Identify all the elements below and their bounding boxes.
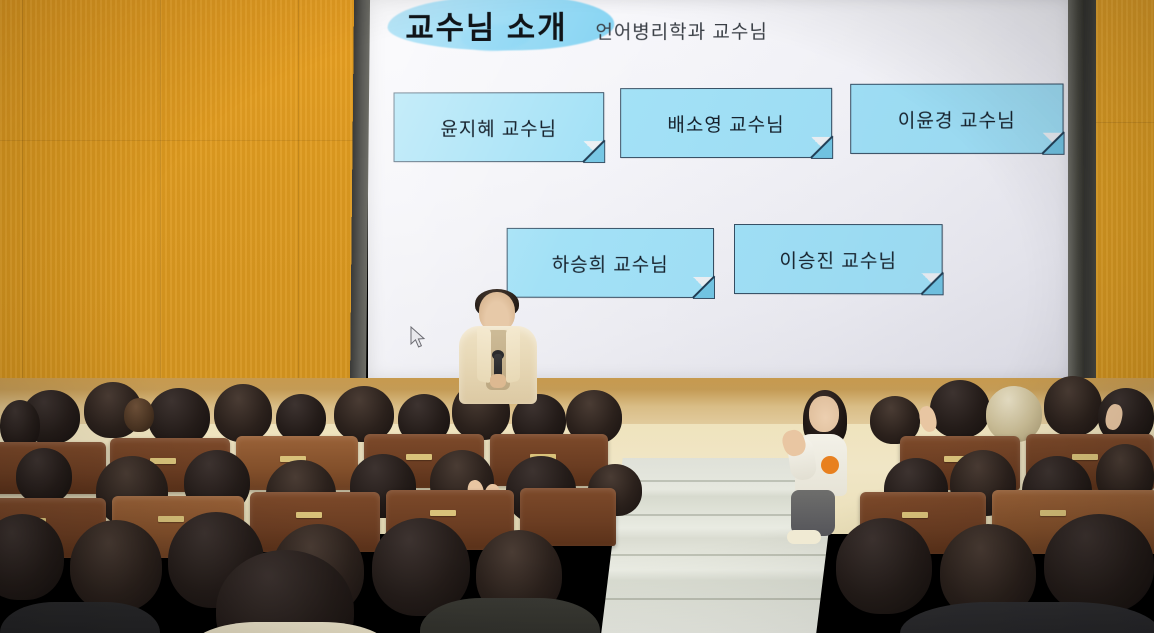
- seat-number-plate: [1072, 454, 1098, 460]
- audience-head: [70, 520, 162, 612]
- seat-number-plate: [296, 512, 322, 518]
- professor-card[interactable]: 이윤경 교수님: [850, 84, 1063, 154]
- clapping-student: [787, 390, 861, 550]
- lecture-hall-scene: 교수님 소개 언어병리학과 교수님 윤지혜 교수님 배소영 교수님 이윤경 교수…: [0, 0, 1154, 633]
- aisle-step: [605, 598, 820, 600]
- professor-card-label: 이승진 교수님: [779, 246, 897, 273]
- student-head: [809, 396, 839, 432]
- audience-head: [16, 448, 72, 504]
- wall-panel-left: [0, 0, 362, 392]
- audience-head: [1044, 514, 1154, 614]
- audience-head: [1044, 376, 1102, 436]
- jacket-patch: [821, 456, 839, 474]
- aisle-step: [611, 554, 826, 556]
- professor-card[interactable]: 윤지혜 교수님: [394, 92, 605, 162]
- professor-card-label: 하승희 교수님: [552, 249, 669, 276]
- audience-head: [930, 380, 990, 438]
- student-shoe: [787, 530, 821, 544]
- page-fold-corner-icon: [583, 141, 605, 163]
- professor-card[interactable]: 이승진 교수님: [734, 224, 943, 294]
- page-fold-corner-icon: [1042, 132, 1064, 154]
- audience-head: [214, 384, 272, 442]
- professor-card[interactable]: 배소영 교수님: [620, 88, 832, 158]
- presenter-hand: [490, 374, 506, 388]
- audience-torso: [900, 602, 1154, 633]
- slide-title: 교수님 소개: [405, 10, 567, 45]
- wall-panel-right: [1096, 0, 1154, 392]
- mouse-cursor-icon: [410, 326, 426, 350]
- page-fold-corner-icon: [693, 277, 715, 299]
- audience-area: [0, 372, 1154, 633]
- audience-head: [276, 394, 326, 442]
- professor-card-label: 윤지혜 교수님: [441, 114, 557, 141]
- page-fold-corner-icon: [921, 273, 943, 295]
- seat-number-plate: [902, 512, 928, 518]
- audience-head: [124, 398, 154, 432]
- seat-number-plate: [1040, 510, 1066, 516]
- slide-subtitle: 언어병리학과 교수님: [595, 17, 767, 44]
- professor-card[interactable]: 하승희 교수님: [507, 228, 714, 298]
- audience-torso: [420, 598, 600, 633]
- screen-frame-right: [1068, 0, 1084, 382]
- professor-card-label: 이윤경 교수님: [898, 105, 1016, 132]
- presenter-lapel-right: [506, 327, 520, 384]
- audience-torso: [0, 602, 160, 633]
- professor-card-label: 배소영 교수님: [667, 109, 784, 136]
- presenter-lapel-left: [477, 327, 491, 384]
- presenter: [459, 292, 537, 402]
- seat-number-plate: [406, 454, 432, 460]
- seat-number-plate: [430, 510, 456, 516]
- page-fold-corner-icon: [811, 137, 833, 159]
- seat-number-plate: [158, 516, 184, 522]
